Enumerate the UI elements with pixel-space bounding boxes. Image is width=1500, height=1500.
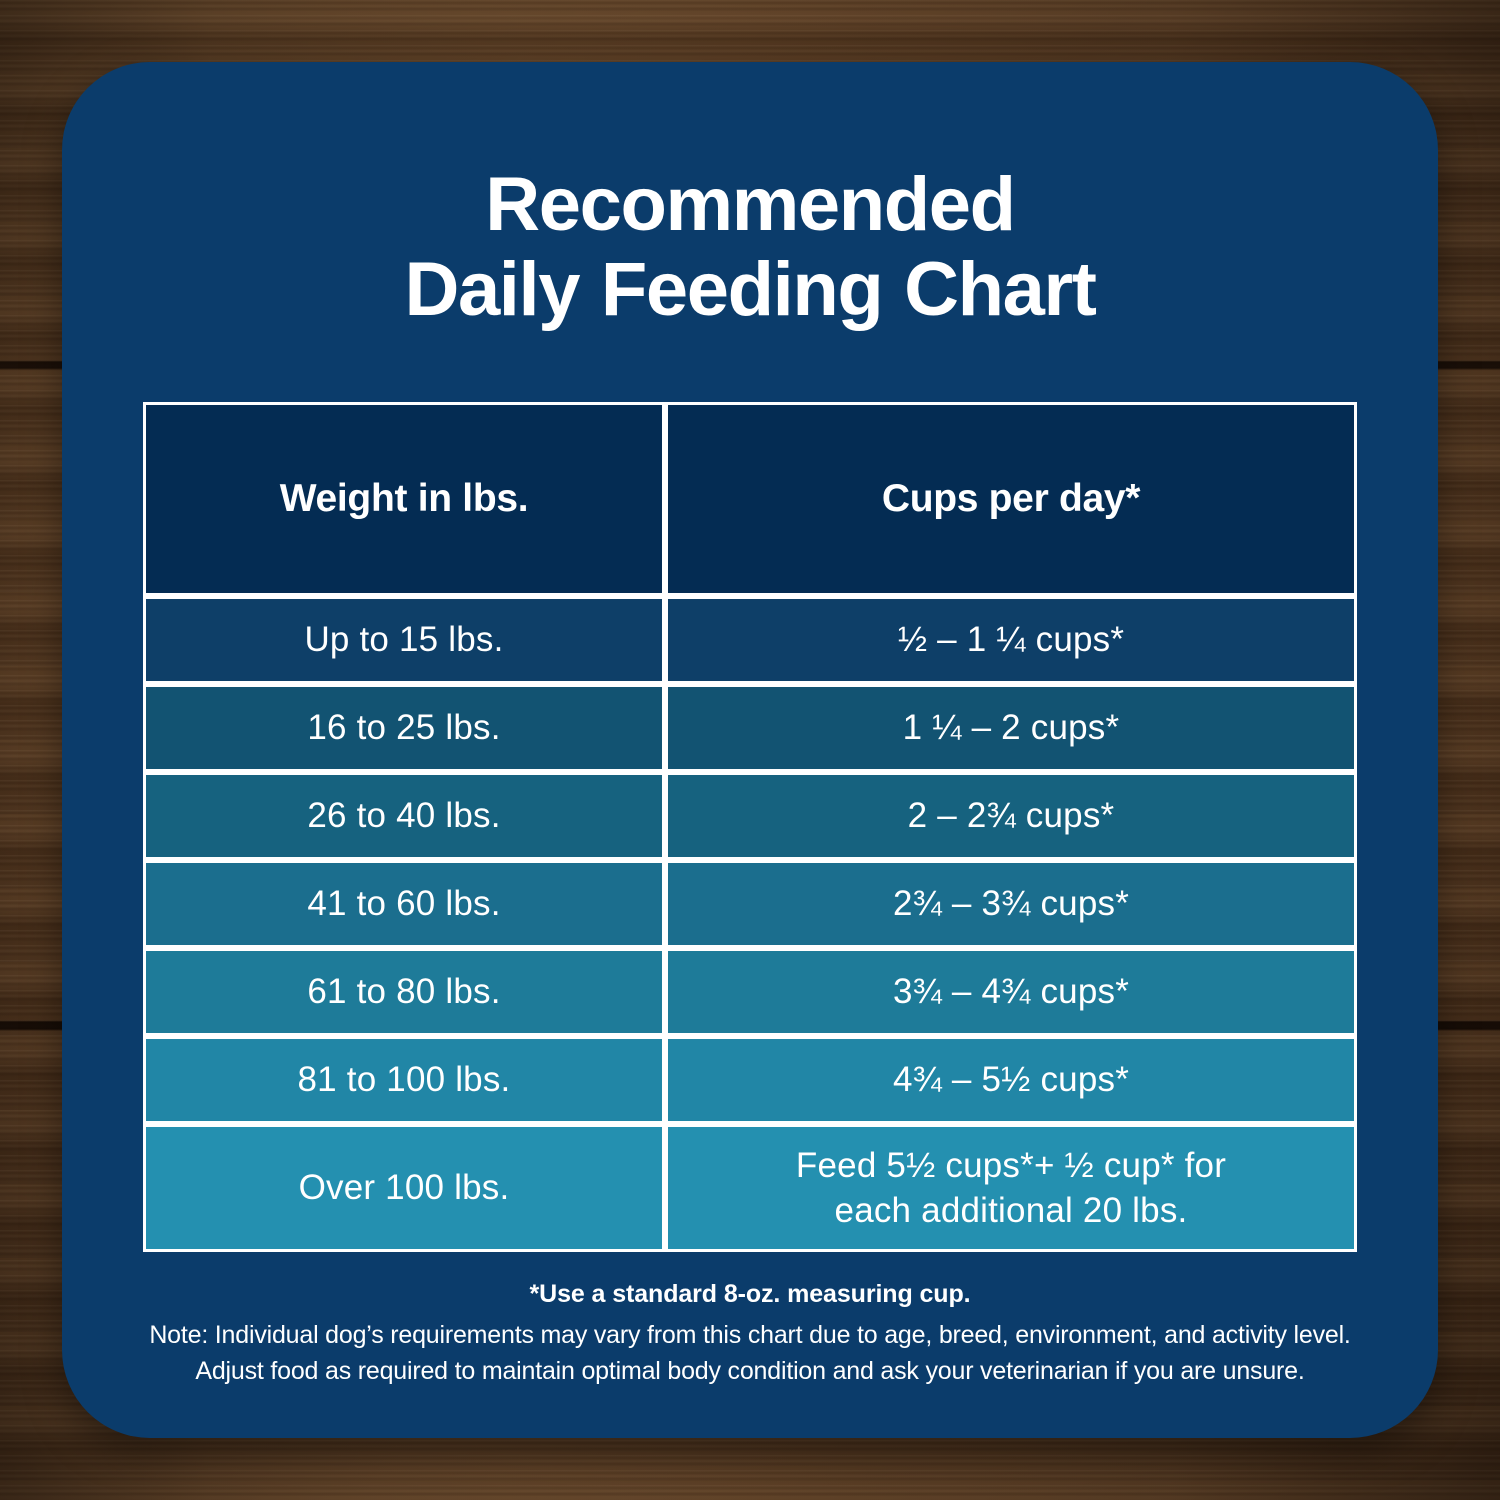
- table-row: 26 to 40 lbs. 2 – 2¾ cups*: [143, 772, 1357, 860]
- cell-cups: 2¾ – 3¾ cups*: [665, 860, 1357, 948]
- table-header: Weight in lbs. Cups per day*: [143, 402, 1357, 596]
- cell-cups: 4¾ – 5½ cups*: [665, 1036, 1357, 1124]
- footnotes: *Use a standard 8-oz. measuring cup. Not…: [102, 1280, 1398, 1389]
- page-title-line-2: Daily Feeding Chart: [62, 247, 1438, 332]
- table-row: Up to 15 lbs. ½ – 1 ¼ cups*: [143, 596, 1357, 684]
- table-header-row: Weight in lbs. Cups per day*: [143, 402, 1357, 596]
- cell-cups-line-2: each additional 20 lbs.: [835, 1191, 1188, 1230]
- cell-weight: Up to 15 lbs.: [143, 596, 665, 684]
- cell-weight: 16 to 25 lbs.: [143, 684, 665, 772]
- footnote-note-line-1: Note: Individual dog’s requirements may …: [102, 1318, 1398, 1354]
- table-body: Up to 15 lbs. ½ – 1 ¼ cups* 16 to 25 lbs…: [143, 596, 1357, 1252]
- feeding-table: Weight in lbs. Cups per day* Up to 15 lb…: [143, 402, 1357, 1252]
- feeding-chart-card: Recommended Daily Feeding Chart Weight i…: [62, 62, 1438, 1438]
- table-row: 16 to 25 lbs. 1 ¼ – 2 cups*: [143, 684, 1357, 772]
- footnote-measuring-cup: *Use a standard 8-oz. measuring cup.: [102, 1280, 1398, 1309]
- page-title-line-1: Recommended: [62, 162, 1438, 247]
- column-header-weight: Weight in lbs.: [143, 402, 665, 596]
- cell-weight: 61 to 80 lbs.: [143, 948, 665, 1036]
- column-header-cups: Cups per day*: [665, 402, 1357, 596]
- cell-cups: 3¾ – 4¾ cups*: [665, 948, 1357, 1036]
- cell-cups: 2 – 2¾ cups*: [665, 772, 1357, 860]
- cell-cups: 1 ¼ – 2 cups*: [665, 684, 1357, 772]
- page-title: Recommended Daily Feeding Chart: [62, 162, 1438, 332]
- cell-weight: 81 to 100 lbs.: [143, 1036, 665, 1124]
- table-row: 41 to 60 lbs. 2¾ – 3¾ cups*: [143, 860, 1357, 948]
- table-row: 61 to 80 lbs. 3¾ – 4¾ cups*: [143, 948, 1357, 1036]
- table-row: 81 to 100 lbs. 4¾ – 5½ cups*: [143, 1036, 1357, 1124]
- cell-weight: 26 to 40 lbs.: [143, 772, 665, 860]
- footnote-note-line-2: Adjust food as required to maintain opti…: [102, 1354, 1398, 1390]
- cell-weight: 41 to 60 lbs.: [143, 860, 665, 948]
- table-row: Over 100 lbs. Feed 5½ cups*+ ½ cup* for …: [143, 1124, 1357, 1252]
- cell-cups: Feed 5½ cups*+ ½ cup* for each additiona…: [665, 1124, 1357, 1252]
- cell-cups-line-1: Feed 5½ cups*+ ½ cup* for: [796, 1146, 1226, 1185]
- cell-cups: ½ – 1 ¼ cups*: [665, 596, 1357, 684]
- cell-weight: Over 100 lbs.: [143, 1124, 665, 1252]
